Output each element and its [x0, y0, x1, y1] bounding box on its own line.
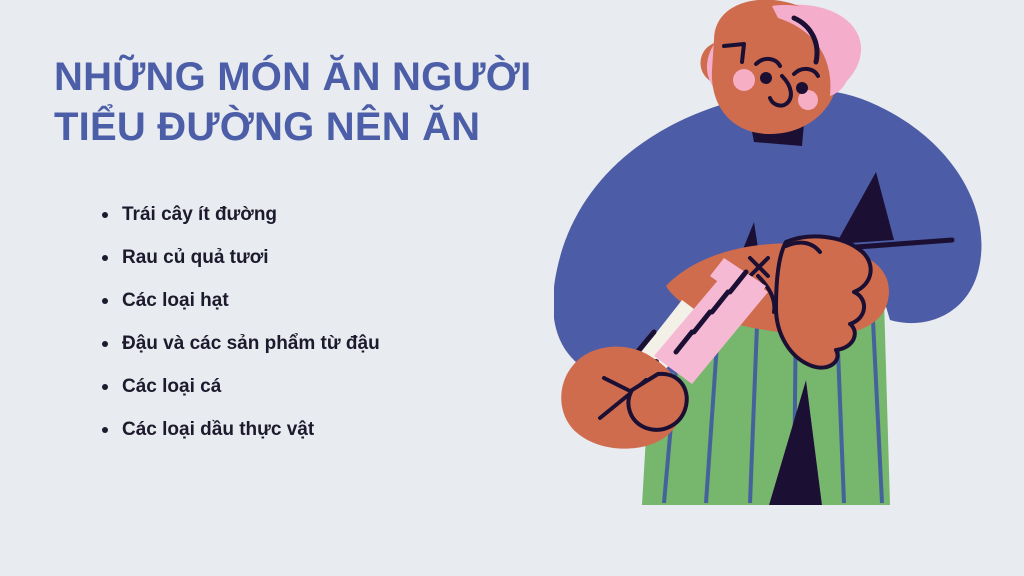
bullet-icon [102, 212, 108, 218]
list-item-label: Trái cây ít đường [122, 202, 277, 228]
list-item-label: Các loại hạt [122, 288, 229, 314]
slide-canvas: NHỮNG MÓN ĂN NGƯỜI TIỂU ĐƯỜNG NÊN ĂN Trá… [0, 0, 1024, 576]
list-item: Các loại hạt [96, 288, 536, 331]
text-column: NHỮNG MÓN ĂN NGƯỜI TIỂU ĐƯỜNG NÊN ĂN Trá… [0, 0, 580, 576]
page-title: NHỮNG MÓN ĂN NGƯỜI TIỂU ĐƯỜNG NÊN ĂN [54, 52, 574, 152]
person-injecting-insulin-illustration [554, 0, 1024, 576]
list-item: Rau củ quả tươi [96, 245, 536, 288]
bullet-icon [102, 298, 108, 304]
bullet-icon [102, 384, 108, 390]
bullet-icon [102, 427, 108, 433]
food-recommendation-list: Trái cây ít đường Rau củ quả tươi Các lo… [96, 202, 536, 460]
bullet-icon [102, 255, 108, 261]
list-item-label: Các loại dầu thực vật [122, 417, 314, 443]
list-item: Đậu và các sản phẩm từ đậu [96, 331, 536, 374]
bullet-icon [102, 341, 108, 347]
eye-right [796, 82, 808, 94]
list-item-label: Các loại cá [122, 374, 221, 400]
list-item-label: Đậu và các sản phẩm từ đậu [122, 331, 380, 357]
list-item-label: Rau củ quả tươi [122, 245, 269, 271]
illustration-svg [554, 0, 1024, 576]
list-item: Các loại cá [96, 374, 536, 417]
cheek-blush-left [733, 69, 755, 91]
list-item: Các loại dầu thực vật [96, 417, 536, 460]
list-item: Trái cây ít đường [96, 202, 536, 245]
eye-left [760, 72, 772, 84]
